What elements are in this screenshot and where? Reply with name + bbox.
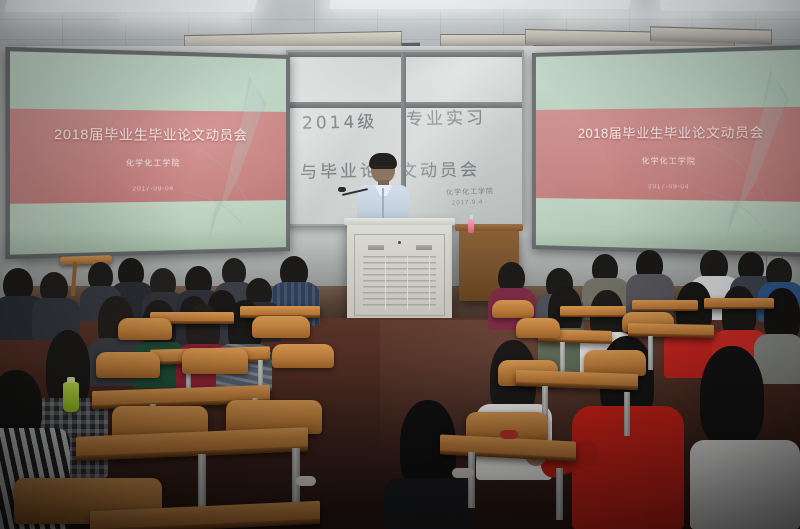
microphone-head xyxy=(338,187,346,192)
ceiling-light-fixture xyxy=(329,0,630,9)
audience-torso-white xyxy=(690,440,800,529)
podium-indicator-led xyxy=(398,241,401,244)
ceiling-light-fixture xyxy=(659,0,800,11)
desk xyxy=(632,300,698,311)
lecture-hall-photo: 2014级 专业实习 与毕业论 文动员会 化学化工学院 2017.9.4 2 xyxy=(0,0,800,529)
slide-title: 2018届毕业生毕业论文动员会 xyxy=(536,120,800,141)
ceiling-light-fixture xyxy=(4,0,258,12)
podium-slot xyxy=(368,245,384,250)
podium-slot xyxy=(416,245,432,250)
shoe xyxy=(296,476,316,486)
podium-top-surface xyxy=(344,218,455,225)
slide-content: 2018届毕业生毕业论文动员会 化学化工学院 2017-09-04 xyxy=(10,51,286,254)
chair-back xyxy=(118,318,172,340)
ceiling-light-glow xyxy=(560,12,710,19)
desk-leg xyxy=(556,468,563,520)
bottle-cap xyxy=(67,377,75,383)
slide-projection-glare xyxy=(536,49,800,252)
chair-back xyxy=(516,318,560,338)
desk-leg xyxy=(648,336,653,370)
right-projection-screen: 2018届毕业生毕业论文动员会 化学化工学院 2017-09-04 xyxy=(532,45,800,257)
left-projection-screen: 2018届毕业生毕业论文动员会 化学化工学院 2017-09-04 xyxy=(5,47,290,259)
chair-back xyxy=(252,316,310,338)
chair-back xyxy=(272,344,334,368)
chair-back xyxy=(492,300,534,318)
slide-subtitle: 化学化工学院 xyxy=(10,157,286,169)
slide-projection-glare xyxy=(10,51,286,254)
desk xyxy=(560,306,626,317)
slide-title: 2018届毕业生毕业论文动员会 xyxy=(10,122,286,143)
slide-subtitle: 化学化工学院 xyxy=(536,155,800,167)
chair-back xyxy=(96,352,160,378)
desk-leg xyxy=(468,452,475,508)
slide-content: 2018届毕业生毕业论文动员会 化学化工学院 2017-09-04 xyxy=(536,49,800,252)
presenter-glasses xyxy=(373,166,393,171)
shoe xyxy=(452,468,474,478)
desk xyxy=(628,323,714,338)
green-water-bottle xyxy=(63,382,79,412)
audience-long-hair xyxy=(700,346,764,446)
shoe xyxy=(500,430,518,439)
ceiling-light-glow xyxy=(120,14,240,21)
desk xyxy=(704,298,774,309)
audience-torso xyxy=(384,478,476,529)
desk-leg xyxy=(624,392,630,436)
podium-vent-grille xyxy=(363,256,436,310)
chair-back xyxy=(182,348,248,374)
lectern-top-surface xyxy=(455,224,523,231)
pink-water-bottle xyxy=(468,218,474,233)
